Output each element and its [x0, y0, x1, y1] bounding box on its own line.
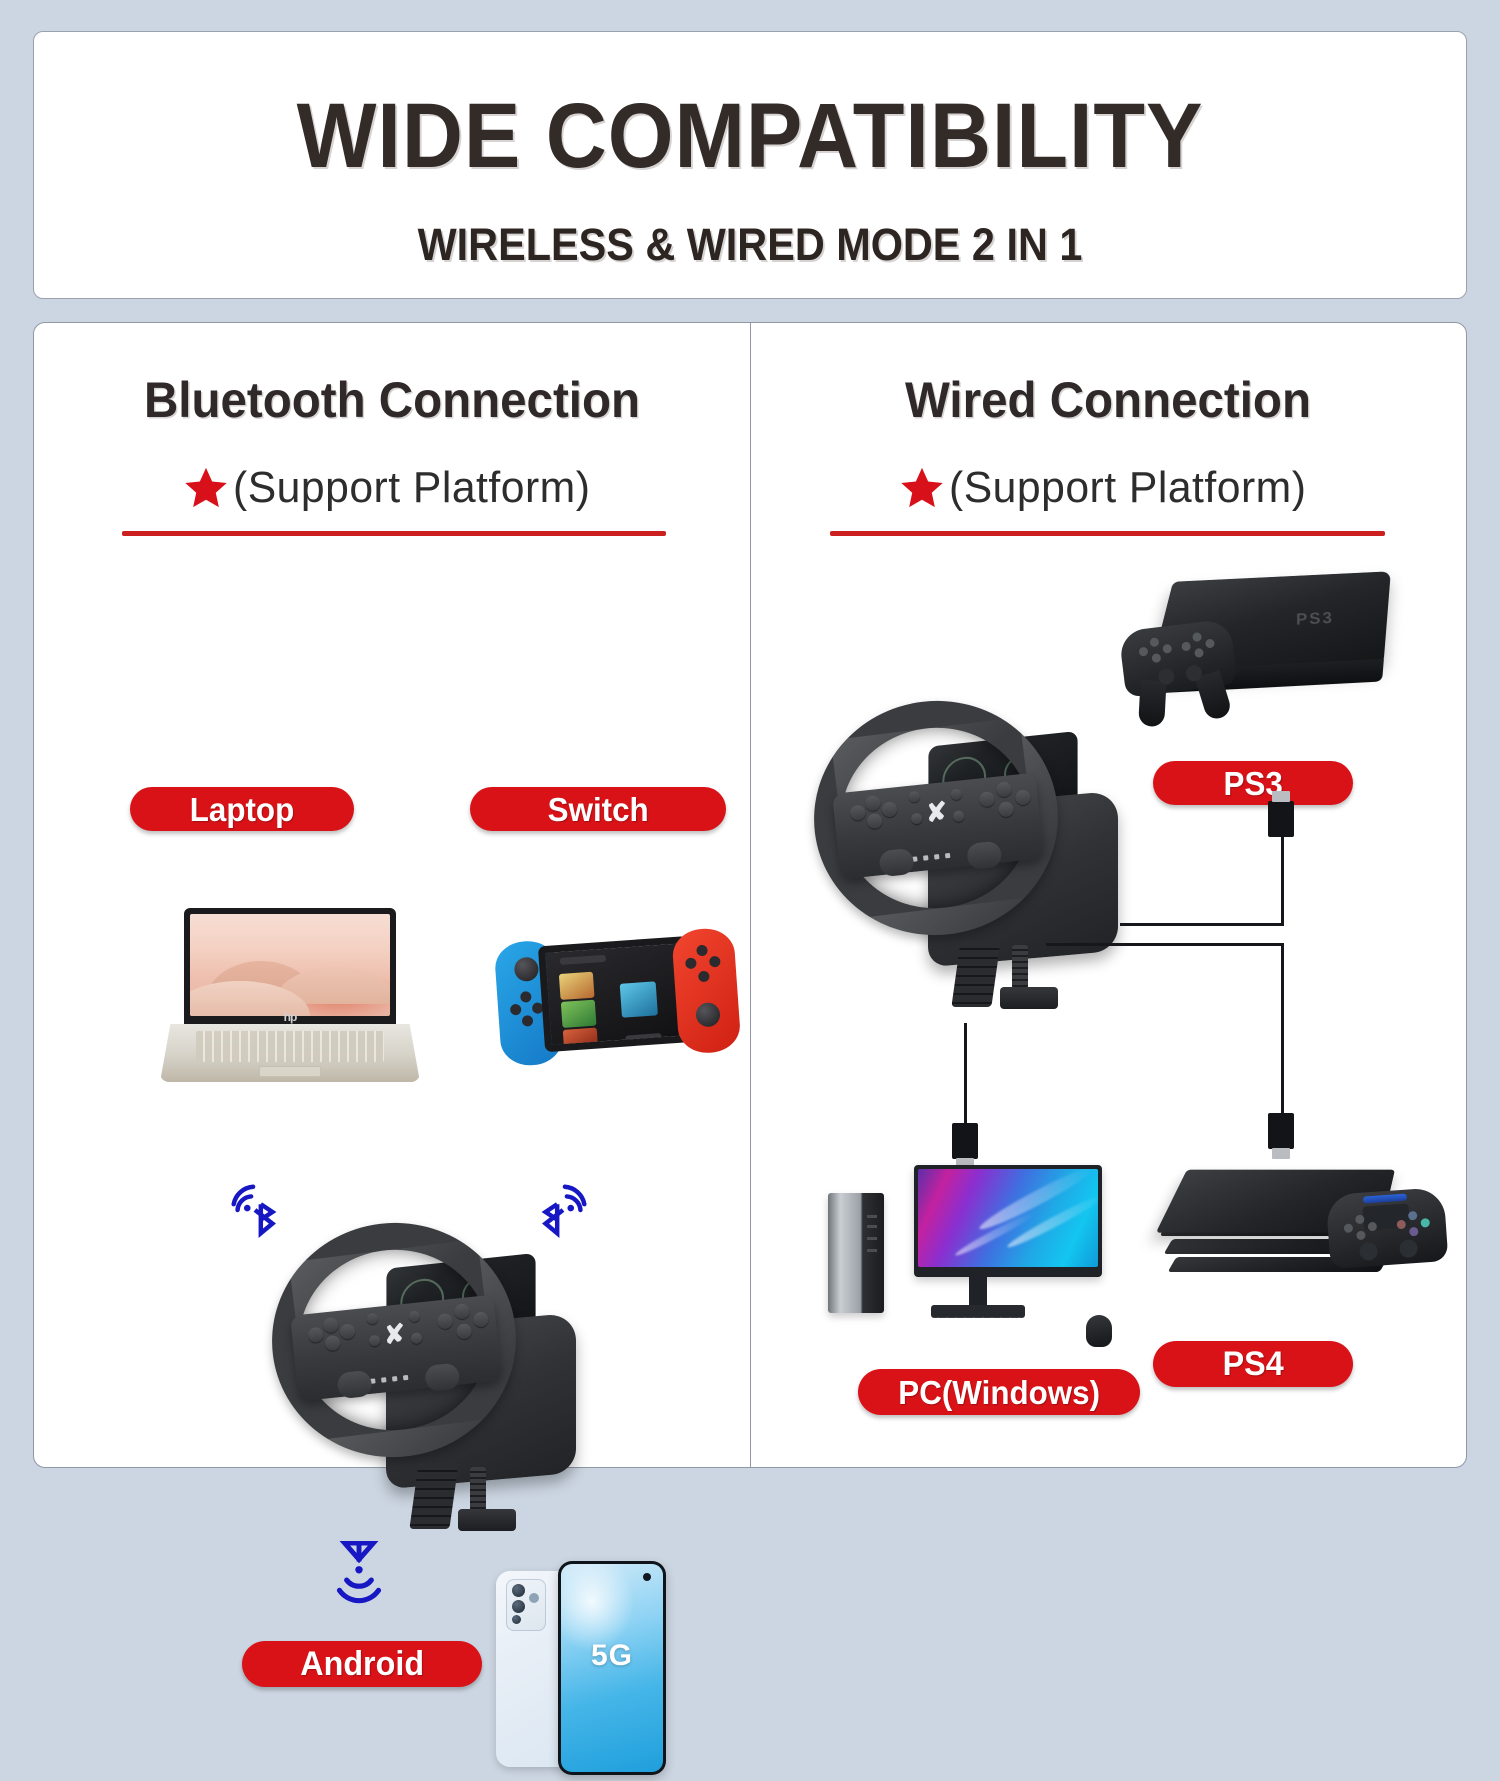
pc-tower [828, 1193, 884, 1313]
brand-x-logo: ✘ [924, 798, 948, 826]
bluetooth-support-label: (Support Platform) [233, 463, 590, 513]
wired-column: Wired Connection (Support Platform) PS3 [750, 323, 1466, 1467]
infographic-page: WIDE COMPATIBILITY WIRELESS & WIRED MODE… [0, 0, 1500, 1500]
phone-screen: 5G [561, 1564, 663, 1772]
laptop-brand-logo: hp [284, 1010, 297, 1024]
bluetooth-rule [122, 531, 666, 536]
page-title: WIDE COMPATIBILITY [91, 90, 1408, 182]
laptop-screen [190, 914, 390, 1016]
laptop-keyboard [196, 1031, 383, 1062]
star-icon [899, 465, 945, 511]
laptop-trackpad [259, 1066, 321, 1078]
badge-ps3[interactable]: PS3 [1153, 761, 1353, 805]
header-panel: WIDE COMPATIBILITY WIRELESS & WIRED MODE… [33, 31, 1467, 299]
racing-wheel-bluetooth: ✘ [266, 1213, 596, 1553]
usb-connector-ps4 [1268, 1113, 1294, 1149]
page-subtitle: WIRELESS & WIRED MODE 2 IN 1 [91, 222, 1408, 267]
phone-front: 5G [558, 1561, 666, 1775]
racing-wheel-wired: ✘ [808, 691, 1138, 1031]
badge-switch[interactable]: Switch [470, 787, 726, 831]
bluetooth-support-row: (Support Platform) [34, 463, 750, 513]
wired-support-row: (Support Platform) [750, 463, 1466, 513]
phone-5g-label: 5G [591, 1639, 633, 1673]
pc-mouse [1086, 1315, 1112, 1347]
usb-connector-ps3 [1268, 801, 1294, 837]
playstation-3-icon: PS3 [1122, 573, 1422, 723]
badge-android[interactable]: Android [242, 1641, 482, 1687]
badge-pc-windows[interactable]: PC(Windows) [858, 1369, 1140, 1415]
laptop-lid: hp [184, 908, 396, 1026]
phone-camera-module [506, 1579, 546, 1631]
bluetooth-column: Bluetooth Connection (Support Platform) … [34, 323, 750, 1467]
wired-rule [830, 531, 1385, 536]
desktop-pc-icon [828, 1165, 1128, 1355]
laptop-icon: hp [160, 908, 422, 1086]
wired-section-title: Wired Connection [768, 371, 1448, 429]
dualshock4-controller [1326, 1187, 1449, 1269]
badge-ps4[interactable]: PS4 [1153, 1341, 1353, 1387]
switch-joycon-right [671, 927, 741, 1055]
phone-punch-hole-camera [643, 1573, 651, 1581]
wheel-clamp [956, 941, 1066, 1019]
pc-monitor-neck [969, 1277, 987, 1307]
laptop-base [160, 1024, 420, 1082]
dualshock3-controller [1118, 618, 1237, 697]
android-phone-icon: 5G [496, 1561, 672, 1781]
ps3-logo: PS3 [1296, 609, 1334, 630]
pc-monitor-screen [918, 1169, 1098, 1267]
wired-support-label: (Support Platform) [949, 463, 1306, 513]
star-icon [183, 465, 229, 511]
switch-screen [538, 936, 695, 1052]
playstation-4-icon [1146, 1165, 1446, 1315]
wheel-clamp [414, 1463, 524, 1541]
brand-x-logo: ✘ [382, 1320, 406, 1348]
usb-connector-pc [952, 1123, 978, 1159]
pc-monitor [914, 1165, 1102, 1277]
pc-keyboard [892, 1317, 1078, 1343]
body-panel: Bluetooth Connection (Support Platform) … [33, 322, 1467, 1468]
badge-laptop[interactable]: Laptop [130, 787, 354, 831]
bluetooth-section-title: Bluetooth Connection [52, 371, 732, 429]
nintendo-switch-icon [496, 927, 740, 1079]
